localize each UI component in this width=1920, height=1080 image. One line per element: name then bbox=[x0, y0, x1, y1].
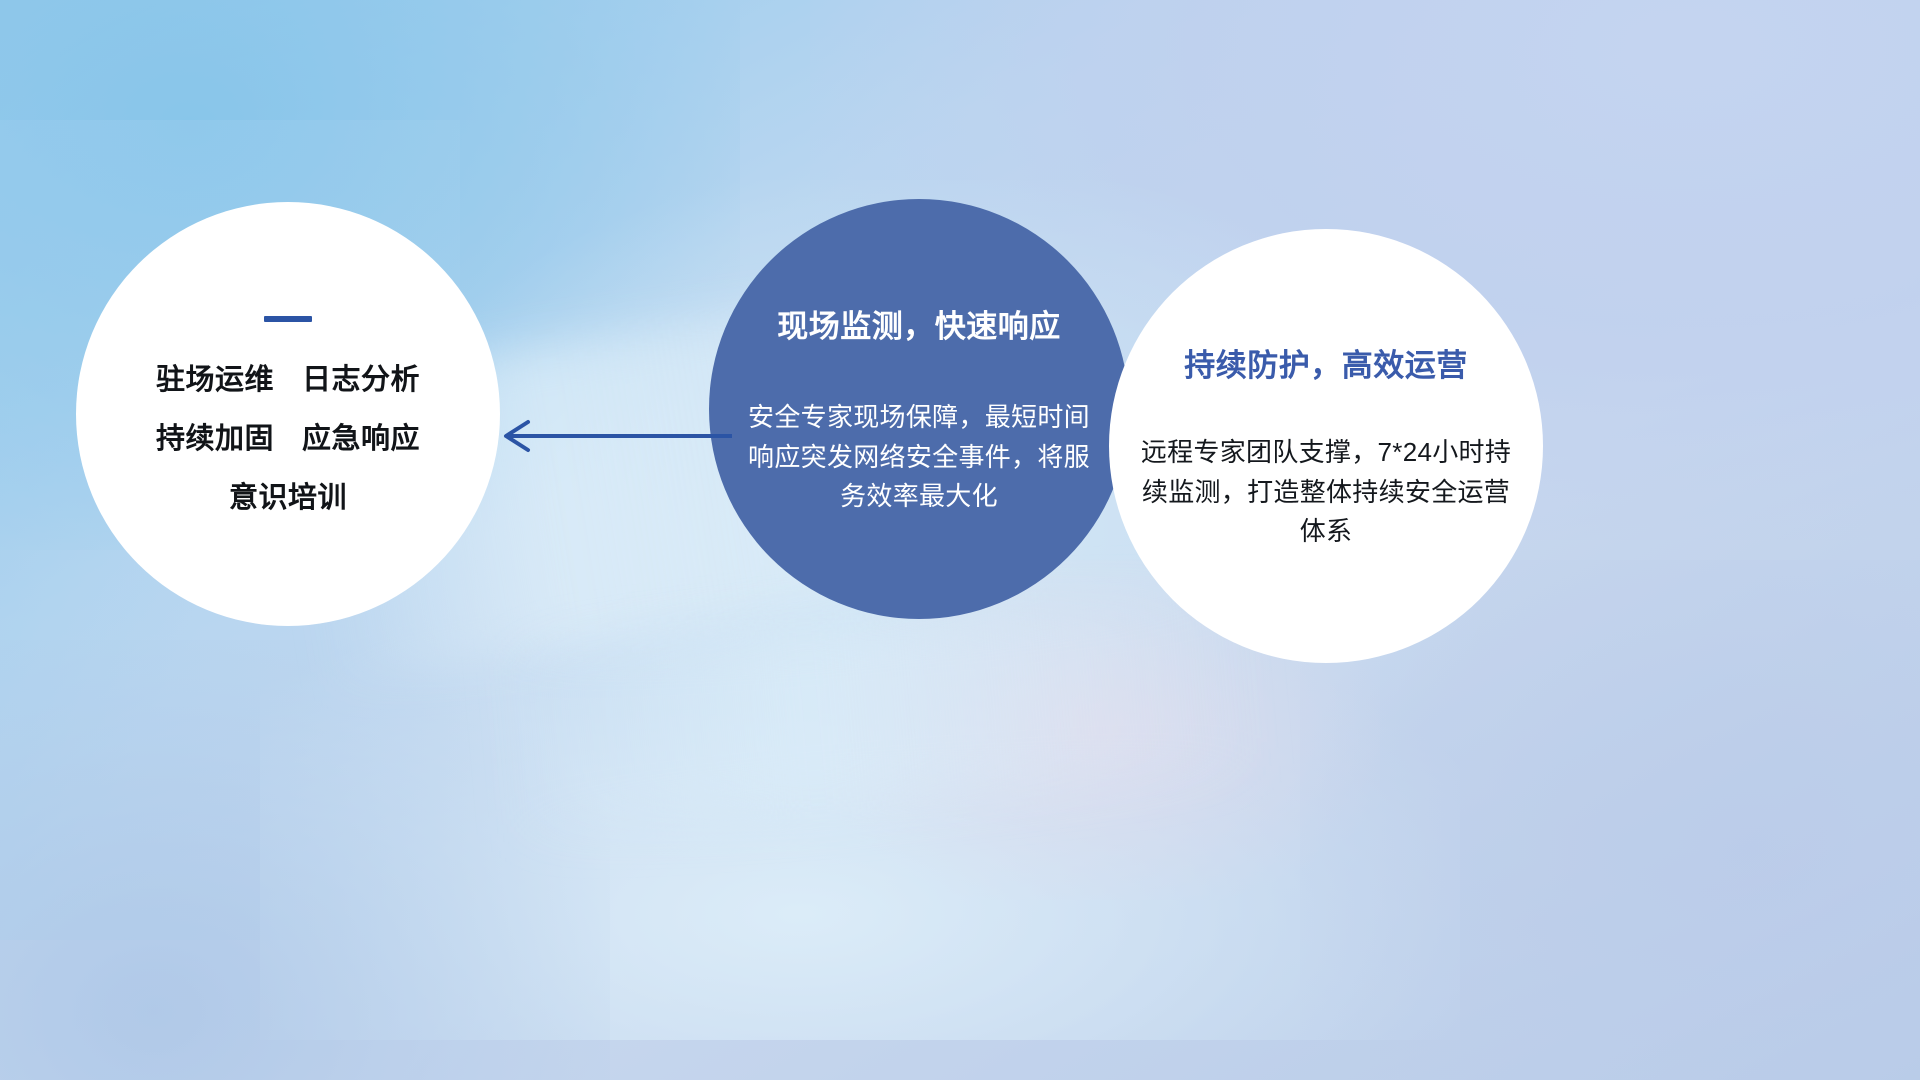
capability-item: 意识培训 bbox=[229, 484, 347, 513]
continuous-operations-circle: 持续防护，高效运营 远程专家团队支撑，7*24小时持续监测，打造整体持续安全运营… bbox=[1109, 229, 1543, 663]
capability-item: 驻场运维 bbox=[156, 366, 274, 395]
capability-item: 日志分析 bbox=[302, 366, 420, 395]
onsite-monitoring-circle: 现场监测，快速响应 安全专家现场保障，最短时间响应突发网络安全事件，将服务效率最… bbox=[709, 199, 1129, 619]
capability-item: 应急响应 bbox=[302, 425, 420, 454]
continuous-circle-title: 持续防护，高效运营 bbox=[1184, 340, 1468, 385]
capability-item: 持续加固 bbox=[156, 425, 274, 454]
capabilities-row: 持续加固 应急响应 bbox=[156, 425, 420, 454]
capabilities-row: 驻场运维 日志分析 bbox=[156, 366, 420, 395]
onsite-circle-title: 现场监测，快速响应 bbox=[777, 301, 1061, 346]
capabilities-list: 驻场运维 日志分析 持续加固 应急响应 意识培训 bbox=[156, 366, 420, 513]
continuous-circle-body: 远程专家团队支撑，7*24小时持续监测，打造整体持续安全运营体系 bbox=[1135, 433, 1517, 552]
capabilities-row: 意识培训 bbox=[156, 484, 420, 513]
onsite-circle-body: 安全专家现场保障，最短时间响应突发网络安全事件，将服务效率最大化 bbox=[743, 398, 1095, 517]
horizontal-rule-icon bbox=[264, 316, 312, 322]
capabilities-circle: 驻场运维 日志分析 持续加固 应急响应 意识培训 bbox=[76, 202, 500, 626]
arrow-left-icon bbox=[484, 404, 732, 468]
